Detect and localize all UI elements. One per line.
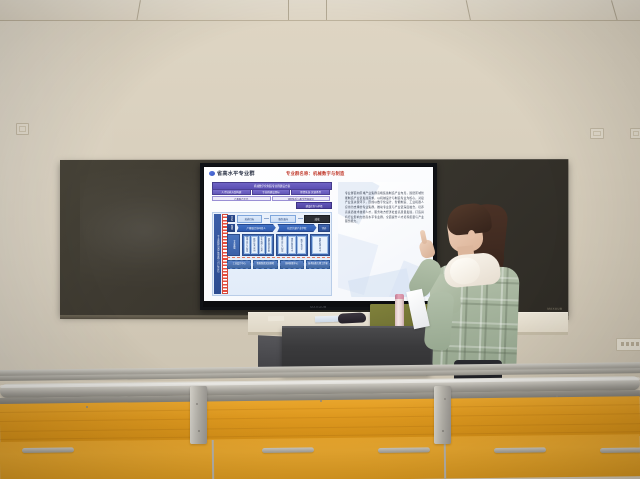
wall-outlet-icon[interactable] [616, 338, 640, 351]
desk-post [434, 386, 451, 444]
diagram-tier-2: 路径 产教融合协同育人 校企共建产业学院 评价 [227, 224, 330, 232]
header-rule [209, 180, 409, 181]
tier1-label: 目标 [227, 215, 235, 222]
desk-handle[interactable] [378, 447, 430, 453]
dark-object-on-desk [338, 312, 366, 323]
bottom-box: 智能制造实训基地 [253, 260, 277, 269]
sidebar-vertical-label: 专业群建设总体思路与目标定位 [216, 235, 220, 273]
tier2-item: 校企共建产业学院 [277, 224, 316, 233]
diagram-dash-divider [227, 257, 330, 258]
slide-paragraph: 专业群面向区域产业集群高端装备制造产业布局，围绕区域智能制造产业链发展需求，以机… [345, 192, 424, 225]
diagram-cluster-row: 专业基础 机械设计与制造 数控技术应用 工业机器人技术 智能制造装备 模具设计与… [227, 234, 330, 256]
tier1-item: 服务面向 [270, 215, 296, 223]
slide-title: 省高水平专业群 [217, 170, 255, 177]
display-brand-label: MAXHUB [310, 305, 326, 309]
desk-handle[interactable] [22, 447, 74, 453]
desk-surface [0, 434, 640, 479]
cluster-group-3: 智能检测技术 [310, 234, 330, 256]
diagram-right-tag: 建设任务与举措 [296, 202, 332, 209]
diagram-main-block: 专业群建设总体思路与目标定位 目标 培养目标 服务面向 成效 [212, 212, 332, 296]
thermos-cap [395, 294, 404, 299]
diagram-thin-row: 产教融合平台 课程体系与教学资源建设 [212, 196, 330, 201]
interactive-display[interactable]: 省高水平专业群 专业群名称：机械数字与制造 机械数字化制造专业群建设方案 人才培… [200, 163, 437, 310]
slide-header: 省高水平专业群 专业群名称：机械数字与制造 [204, 167, 433, 181]
right-switch-a-icon[interactable] [590, 128, 604, 139]
tier2-item: 产教融合协同育人 [237, 224, 276, 233]
desk-handle[interactable] [600, 447, 640, 453]
presentation-slide: 省高水平专业群 专业群名称：机械数字与制造 机械数字化制造专业群建设方案 人才培… [204, 167, 433, 301]
papers-on-desk [315, 316, 339, 323]
diagram-tier-1: 目标 培养目标 服务面向 成效 [227, 215, 330, 222]
purple-cell: 专业群建设目标 [252, 189, 291, 196]
thin-cell: 产教融合平台 [212, 196, 271, 201]
tier1-tail: 成效 [304, 215, 330, 223]
bottom-box: 工业设计中心 [227, 260, 251, 269]
classroom-photo: MAXHUB 省高水平专业群 专业群名称：机械数字与制造 机械数字化制造专业群建… [0, 0, 640, 479]
student-desk-row [0, 370, 640, 479]
slide-subtitle: 专业群名称：机械数字与制造 [286, 171, 344, 177]
diagram-bottom-row: 工业设计中心 智能制造实训基地 协同创新中心 技术技能大师工作室 [227, 260, 330, 269]
desk-handle[interactable] [262, 447, 314, 453]
right-switch-b-icon[interactable] [630, 128, 640, 139]
bottom-box: 技术技能大师工作室 [306, 260, 330, 269]
ceiling [0, 0, 640, 22]
diagram-vertical-sidebar: 专业群建设总体思路与目标定位 [214, 214, 221, 294]
purple-cell: 人才培养方案构建 [212, 189, 251, 196]
tier2-tail: 评价 [318, 224, 330, 232]
diagram-purple-row: 人才培养方案构建 专业群建设目标 师资队伍·实训条件 [212, 189, 330, 196]
slide-diagram: 机械数字化制造专业群建设方案 人才培养方案构建 专业群建设目标 师资队伍·实训条… [208, 182, 336, 297]
cluster-side-label: 专业基础 [227, 234, 240, 256]
desk-post [190, 386, 207, 444]
header-bullet-icon [209, 171, 215, 176]
blackboard-brand-label: MAXHUB [547, 307, 562, 311]
bottom-box: 协同创新中心 [280, 260, 304, 269]
ear [468, 230, 475, 239]
cluster-group-1: 机械设计与制造 数控技术应用 工业机器人技术 智能制造装备 [242, 234, 274, 256]
cluster-group-2: 模具设计与制造 增材制造技术 数字化设计 [276, 234, 308, 256]
lecturer [428, 196, 532, 382]
thin-cell: 课程体系与教学资源建设 [272, 196, 331, 201]
left-switch-icon[interactable] [16, 123, 29, 135]
tier2-label: 路径 [227, 224, 235, 232]
desk-handle[interactable] [494, 447, 546, 453]
tier1-item: 培养目标 [237, 215, 263, 223]
desk-item [268, 316, 284, 322]
purple-cell: 师资队伍·实训条件 [291, 189, 330, 196]
